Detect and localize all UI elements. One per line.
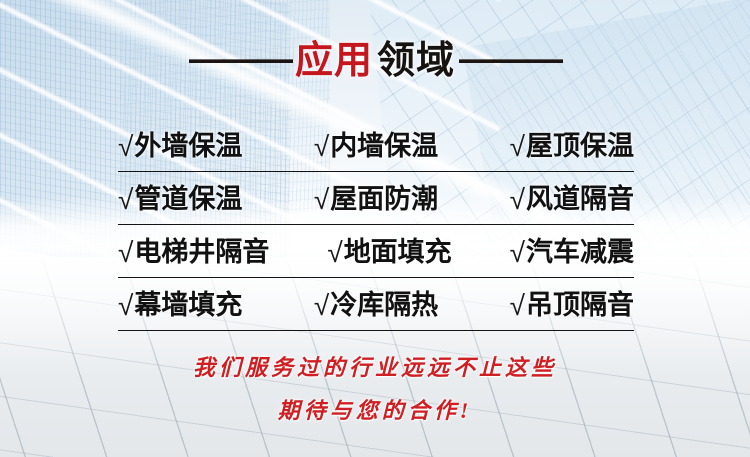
list-item-label: 冷库隔热 <box>330 292 438 319</box>
table-row: √ 外墙保温 √ 内墙保温 √ 屋顶保温 <box>118 132 634 172</box>
list-item: √ 屋顶保温 <box>510 132 634 160</box>
slogan-line-2: 期待与您的合作! <box>0 399 750 422</box>
check-icon: √ <box>118 292 133 320</box>
list-item: √ 电梯井隔音 <box>118 238 269 266</box>
check-icon: √ <box>118 133 133 161</box>
list-item-label: 汽车减震 <box>526 239 634 266</box>
list-item-label: 风道隔音 <box>526 186 634 213</box>
list-item-label: 地面填充 <box>344 239 452 266</box>
check-icon: √ <box>314 292 329 320</box>
check-icon: √ <box>510 186 525 214</box>
application-fields-banner: ——— 应用 领域 ——— √ 外墙保温 √ 内墙保温 √ 屋顶保温 <box>0 0 750 457</box>
list-item: √ 汽车减震 <box>510 238 634 266</box>
list-item-label: 幕墙填充 <box>134 292 242 319</box>
table-row: √ 管道保温 √ 屋面防潮 √ 风道隔音 <box>118 185 634 225</box>
check-icon: √ <box>314 133 329 161</box>
list-item-label: 电梯井隔音 <box>134 239 269 266</box>
check-icon: √ <box>118 239 133 267</box>
slogan-block: 我们服务过的行业远远不止这些 期待与您的合作! <box>0 356 750 422</box>
list-item: √ 风道隔音 <box>510 185 634 213</box>
title-text-secondary: 领域 <box>377 40 455 84</box>
check-icon: √ <box>510 239 525 267</box>
list-item: √ 屋面防潮 <box>314 185 438 213</box>
list-item: √ 管道保温 <box>118 185 242 213</box>
title-text-primary: 应用 <box>295 40 373 84</box>
table-row: √ 电梯井隔音 √ 地面填充 √ 汽车减震 <box>118 238 634 278</box>
page-title: ——— 应用 领域 ——— <box>0 40 750 84</box>
title-left-dashes: ——— <box>189 41 291 77</box>
check-icon: √ <box>510 292 525 320</box>
list-item: √ 内墙保温 <box>314 132 438 160</box>
application-fields-list: √ 外墙保温 √ 内墙保温 √ 屋顶保温 √ 管道保温 √ <box>118 132 634 344</box>
list-item: √ 外墙保温 <box>118 132 242 160</box>
list-item: √ 吊顶隔音 <box>510 291 634 319</box>
list-item-label: 屋面防潮 <box>330 186 438 213</box>
check-icon: √ <box>314 186 329 214</box>
list-item: √ 幕墙填充 <box>118 291 242 319</box>
check-icon: √ <box>327 239 342 267</box>
list-item: √ 冷库隔热 <box>314 291 438 319</box>
check-icon: √ <box>118 186 133 214</box>
list-item: √ 地面填充 <box>327 238 451 266</box>
check-icon: √ <box>510 133 525 161</box>
title-right-dashes: ——— <box>459 41 561 77</box>
banner-content: ——— 应用 领域 ——— √ 外墙保温 √ 内墙保温 √ 屋顶保温 <box>0 0 750 457</box>
list-item-label: 外墙保温 <box>134 133 242 160</box>
slogan-line-1: 我们服务过的行业远远不止这些 <box>0 356 750 379</box>
list-item-label: 屋顶保温 <box>526 133 634 160</box>
list-item-label: 吊顶隔音 <box>526 292 634 319</box>
list-item-label: 内墙保温 <box>330 133 438 160</box>
table-row: √ 幕墙填充 √ 冷库隔热 √ 吊顶隔音 <box>118 291 634 331</box>
list-item-label: 管道保温 <box>134 186 242 213</box>
